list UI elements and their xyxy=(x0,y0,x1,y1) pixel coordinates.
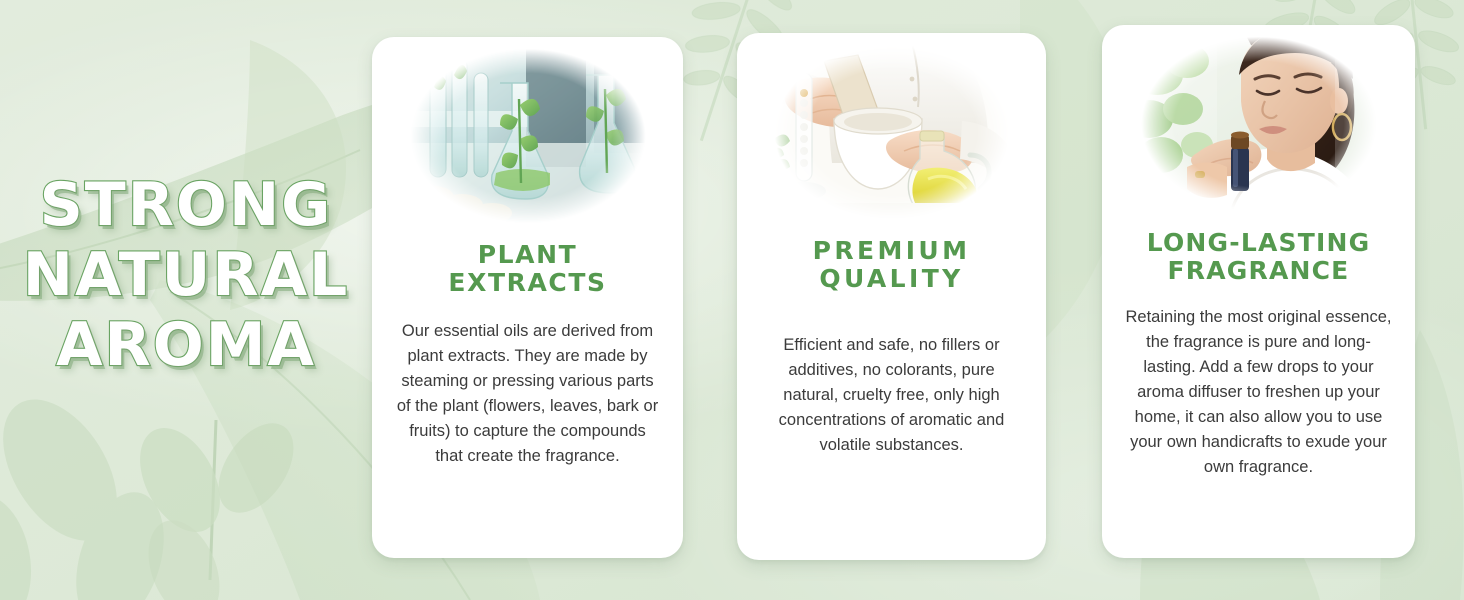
card-body-premium-quality: Efficient and safe, no fillers or additi… xyxy=(737,333,1046,458)
card-title-long-lasting-fragrance: LONG-LASTING FRAGRANCE xyxy=(1135,229,1383,285)
card-title-premium-quality: PREMIUM QUALITY xyxy=(801,237,983,293)
plant-extracts-photo xyxy=(408,47,648,225)
card-body-long-lasting-fragrance: Retaining the most original essence, the… xyxy=(1102,305,1415,481)
headline: STRONG NATURAL AROMA xyxy=(0,170,372,381)
premium-quality-photo xyxy=(772,43,1012,221)
feature-card-plant-extracts: PLANT EXTRACTS Our essential oils are de… xyxy=(372,37,683,558)
card-title-line-1: PLANT xyxy=(478,240,578,269)
mortar-pestle-and-oil-jug-illustration xyxy=(772,43,1012,221)
feature-card-long-lasting-fragrance: LONG-LASTING FRAGRANCE Retaining the mos… xyxy=(1102,25,1415,558)
card-title-line-1: LONG-LASTING xyxy=(1147,228,1371,257)
feature-card-premium-quality: PREMIUM QUALITY Efficient and safe, no f… xyxy=(737,33,1046,560)
card-title-line-2: EXTRACTS xyxy=(448,268,606,297)
headline-line-2: NATURAL xyxy=(0,240,372,310)
long-lasting-fragrance-photo xyxy=(1139,35,1379,213)
headline-line-3: AROMA xyxy=(0,310,372,380)
laboratory-flask-illustration xyxy=(408,47,648,225)
card-title-line-1: PREMIUM xyxy=(813,236,971,265)
card-title-line-2: FRAGRANCE xyxy=(1168,256,1350,285)
card-body-plant-extracts: Our essential oils are derived from plan… xyxy=(372,319,683,469)
card-title-plant-extracts: PLANT EXTRACTS xyxy=(436,241,618,297)
headline-line-1: STRONG xyxy=(0,170,372,240)
card-title-line-2: QUALITY xyxy=(819,264,963,293)
product-feature-banner: STRONG NATURAL AROMA xyxy=(0,0,1464,600)
woman-smelling-oil-illustration xyxy=(1139,35,1379,213)
